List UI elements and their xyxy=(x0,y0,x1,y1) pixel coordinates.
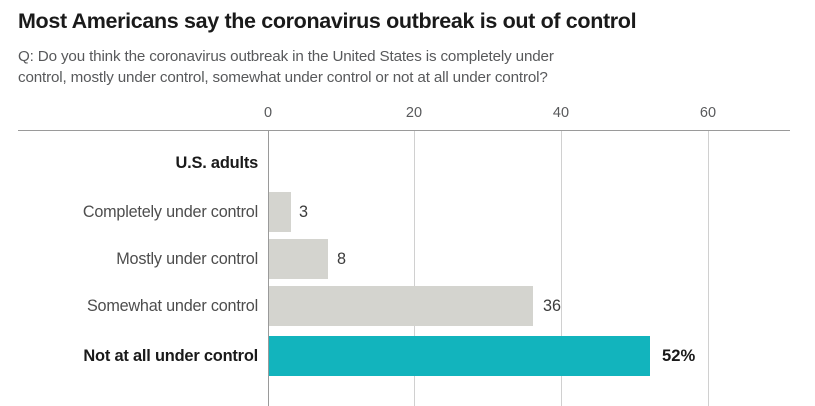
chart-subtitle: Q: Do you think the coronavirus outbreak… xyxy=(18,47,793,88)
bar-not-at-all-under-control[interactable] xyxy=(269,336,650,376)
group-header-row: U.S. adults xyxy=(0,140,815,186)
axis-top-rule xyxy=(18,130,790,131)
chart-subtitle-line-1: Q: Do you think the coronavirus outbreak… xyxy=(18,48,554,65)
bar-row-not-at-all-under-control[interactable]: Not at all under control 52% xyxy=(0,333,815,379)
bar-row-label: Mostly under control xyxy=(0,236,258,282)
bar-row-label: Completely under control xyxy=(0,189,258,235)
bar-row-label: Not at all under control xyxy=(0,333,258,379)
bar-row-mostly-under-control[interactable]: Mostly under control 8 xyxy=(0,236,815,282)
bar-value-label: 3 xyxy=(299,189,308,235)
chart-root: Most Americans say the coronavirus outbr… xyxy=(0,0,815,406)
x-axis-tick-40: 40 xyxy=(553,105,569,121)
bar-value-label: 36 xyxy=(543,283,561,329)
bar-mostly-under-control[interactable] xyxy=(269,239,328,279)
page-title: Most Americans say the coronavirus outbr… xyxy=(18,8,798,34)
bar-row-somewhat-under-control[interactable]: Somewhat under control 36 xyxy=(0,283,815,329)
x-axis-tick-0: 0 xyxy=(264,105,272,121)
chart-subtitle-line-2: control, mostly under control, somewhat … xyxy=(18,68,793,89)
bar-somewhat-under-control[interactable] xyxy=(269,286,533,326)
bar-row-label: Somewhat under control xyxy=(0,283,258,329)
bar-completely-under-control[interactable] xyxy=(269,192,291,232)
bar-row-completely-under-control[interactable]: Completely under control 3 xyxy=(0,189,815,235)
x-axis-tick-20: 20 xyxy=(406,105,422,121)
bar-value-label: 52% xyxy=(662,333,695,379)
x-axis-tick-60: 60 xyxy=(700,105,716,121)
group-header-label: U.S. adults xyxy=(0,140,258,186)
bar-value-label: 8 xyxy=(337,236,346,282)
